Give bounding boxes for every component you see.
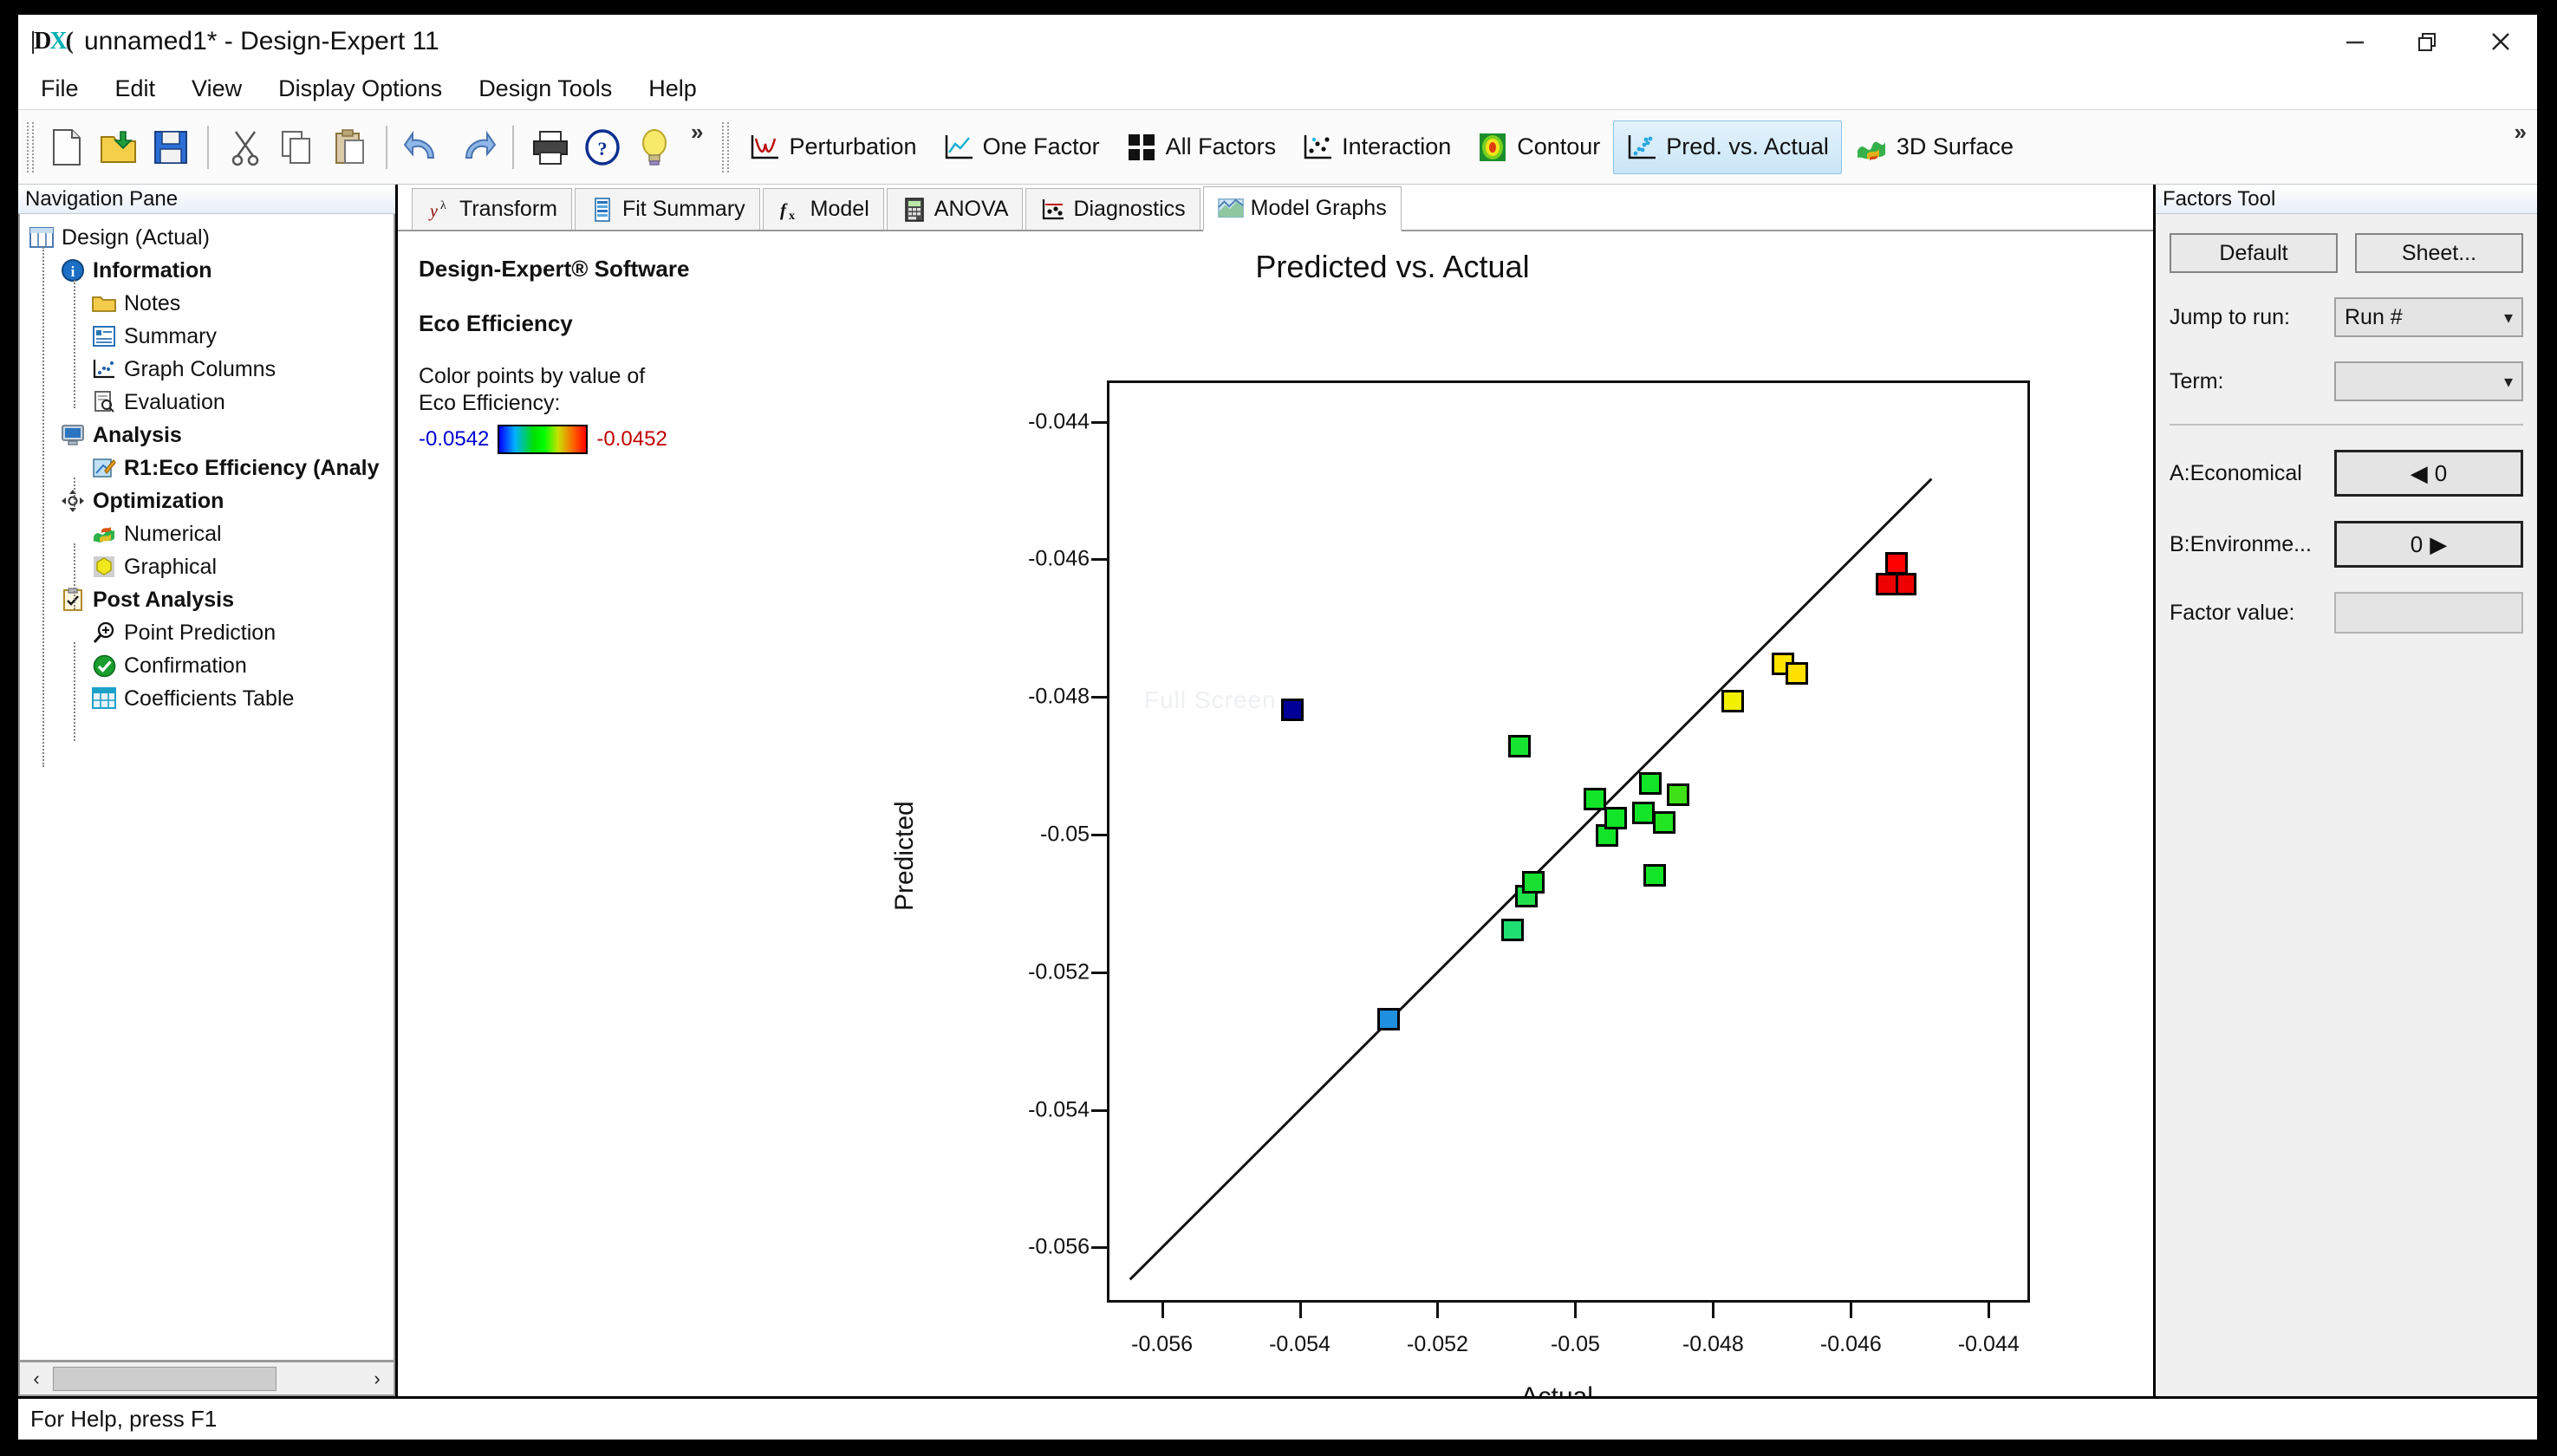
data-point[interactable]: [1377, 1008, 1400, 1030]
sheet-button[interactable]: Sheet...: [2355, 233, 2523, 273]
data-point[interactable]: [1584, 788, 1606, 810]
tree-item-label: Notes: [124, 291, 180, 316]
diagnostics-icon: [1040, 197, 1066, 223]
factors-tool-buttons: Default Sheet...: [2170, 233, 2523, 273]
cut-icon[interactable]: [219, 121, 271, 173]
model-graphs-icon: [1218, 196, 1244, 222]
factors-tool-body: Default Sheet... Jump to run: Run # ▾ Te…: [2156, 214, 2537, 644]
toolbar-overflow-button[interactable]: »: [680, 119, 713, 146]
model-fx-icon: fx: [778, 197, 804, 223]
design-expert-window: |DX( unnamed1* - Design-Expert 11 Fi: [16, 12, 2540, 1442]
data-point[interactable]: [1721, 690, 1744, 712]
svg-text:y: y: [428, 202, 438, 221]
tree-item-label: Summary: [124, 324, 217, 349]
toolbar-separator: [512, 126, 514, 169]
menu-edit[interactable]: Edit: [110, 74, 161, 104]
tree-item-post-analysis[interactable]: Post Analysis: [20, 583, 394, 616]
legend-color-note-line2: Eco Efficiency:: [419, 391, 561, 415]
factor-b-label: B:Environme...: [2170, 532, 2334, 557]
anova-calculator-icon: [901, 197, 927, 223]
tree-item-label: Information: [93, 258, 212, 283]
data-point[interactable]: [1604, 807, 1627, 829]
toolbar-button-one-factor[interactable]: One Factor: [930, 120, 1113, 174]
coefficients-table-icon: [91, 686, 117, 711]
y-axis-tick-mark: [1091, 1246, 1107, 1249]
x-axis-tick-mark: [1574, 1303, 1577, 1318]
numerical-icon: [91, 522, 117, 546]
y-axis-tick-label: -0.054: [934, 1097, 1090, 1122]
data-point[interactable]: [1653, 811, 1675, 834]
menu-display-options[interactable]: Display Options: [273, 74, 447, 104]
data-point[interactable]: [1667, 783, 1689, 806]
y-axis-tick-label: -0.05: [934, 822, 1090, 848]
tree-item-analysis[interactable]: Analysis: [20, 419, 394, 452]
jump-to-run-row: Jump to run: Run # ▾: [2170, 297, 2523, 337]
factor-b-stepper[interactable]: 0 ▶: [2334, 521, 2523, 568]
status-bar: For Help, press F1: [18, 1396, 2537, 1440]
toolbar-separator: [386, 126, 387, 169]
toolbar-grip[interactable]: [27, 122, 34, 172]
factors-tool-panel: Factors Tool Default Sheet... Jump to ru…: [2156, 185, 2537, 1396]
jump-to-run-label: Jump to run:: [2170, 305, 2334, 330]
data-point[interactable]: [1885, 552, 1908, 575]
term-label: Term:: [2170, 369, 2334, 394]
x-axis-tick-mark: [1988, 1303, 1990, 1318]
svg-text:f: f: [780, 199, 788, 220]
tree-item-label: Point Prediction: [124, 621, 276, 646]
svg-text:λ: λ: [440, 199, 446, 212]
confirmation-icon: [91, 653, 117, 678]
tab-label: Model Graphs: [1251, 196, 1387, 221]
main-area: Navigation Pane Design (Actual) i: [18, 185, 2537, 1396]
optimization-icon: [60, 489, 86, 513]
tab-fit-summary[interactable]: Fit Summary: [575, 188, 760, 230]
data-point[interactable]: [1632, 802, 1655, 824]
tab-anova[interactable]: ANOVA: [887, 188, 1024, 230]
menu-view[interactable]: View: [186, 74, 247, 104]
data-point[interactable]: [1639, 772, 1662, 795]
minimize-icon[interactable]: [2319, 17, 2391, 66]
tree-connector: [74, 478, 75, 510]
toolbar-separator: [207, 126, 209, 169]
toolbar-button-label: 3D Surface: [1897, 133, 2014, 160]
tree-item-label: Analysis: [93, 423, 182, 448]
undo-icon[interactable]: [398, 121, 450, 173]
tree-item-design-actual[interactable]: Design (Actual): [20, 221, 394, 254]
y-axis-tick-mark: [1091, 1109, 1107, 1112]
y-axis-tick-mark: [1091, 972, 1107, 974]
data-point[interactable]: [1876, 573, 1898, 595]
copy-icon[interactable]: [271, 121, 323, 173]
chart-title: Predicted vs. Actual: [398, 249, 2153, 285]
y-axis-tick-mark: [1091, 696, 1107, 699]
chevron-down-icon: ▾: [2504, 371, 2513, 393]
tree-connector: [42, 247, 44, 767]
tab-label: Fit Summary: [622, 197, 745, 222]
factors-divider: [2170, 424, 2523, 426]
y-axis-tick-label: -0.046: [934, 547, 1090, 572]
svg-text:i: i: [71, 263, 75, 280]
save-icon[interactable]: [145, 121, 197, 173]
scrollbar-thumb[interactable]: [53, 1367, 277, 1391]
menu-help[interactable]: Help: [643, 74, 702, 104]
tree-item-numerical[interactable]: Numerical: [20, 517, 394, 550]
window-controls: [2319, 17, 2537, 66]
y-axis-tick-mark: [1091, 421, 1107, 424]
data-point[interactable]: [1501, 919, 1524, 941]
toolbar-button-label: One Factor: [983, 133, 1100, 160]
graph-columns-icon: [91, 357, 117, 381]
tab-label: Model: [810, 197, 869, 222]
tree-item-label: Confirmation: [124, 653, 247, 679]
tree-item-point-prediction[interactable]: Point Prediction: [20, 616, 394, 649]
graph-toolbar-overflow-button[interactable]: »: [2504, 119, 2537, 146]
tree-connector: [74, 543, 75, 609]
x-axis-tick-mark: [1436, 1303, 1439, 1318]
factor-b-value: 0: [2411, 531, 2423, 558]
data-point[interactable]: [1786, 662, 1808, 685]
right-arrow-icon[interactable]: ▶: [2430, 531, 2447, 558]
factor-a-stepper[interactable]: ◀ 0: [2334, 450, 2523, 497]
x-axis-tick-label: -0.05: [1506, 1332, 1644, 1357]
tab-diagnostics[interactable]: Diagnostics: [1025, 188, 1200, 230]
factor-value-label: Factor value:: [2170, 601, 2334, 626]
x-axis-tick-mark: [1161, 1303, 1164, 1318]
factors-tool-caption: Factors Tool: [2156, 185, 2537, 214]
tip-icon[interactable]: [628, 121, 680, 173]
tree-item-label: Coefficients Table: [124, 686, 294, 712]
scroll-left-icon[interactable]: ‹: [20, 1362, 53, 1394]
data-point[interactable]: [1522, 871, 1545, 894]
status-bar-text: For Help, press F1: [30, 1406, 217, 1433]
factor-value-row: Factor value:: [2170, 592, 2523, 634]
open-icon[interactable]: [93, 121, 145, 173]
fit-summary-icon: [589, 197, 615, 223]
toolbar-button-all-factors[interactable]: All Factors: [1113, 120, 1290, 174]
information-icon: i: [60, 258, 86, 283]
evaluation-icon: [91, 390, 117, 414]
tree-item-label: Optimization: [93, 489, 224, 514]
redo-icon[interactable]: [450, 121, 502, 173]
jump-to-run-select[interactable]: Run # ▾: [2334, 297, 2523, 337]
close-icon[interactable]: [2464, 17, 2537, 66]
tab-label: ANOVA: [934, 197, 1009, 222]
new-icon[interactable]: [41, 121, 93, 173]
tree-item-label: Design (Actual): [62, 225, 210, 250]
data-point[interactable]: [1643, 864, 1666, 887]
x-axis-tick-label: -0.044: [1919, 1332, 2058, 1357]
navigation-pane: Navigation Pane Design (Actual) i: [18, 185, 398, 1396]
tree-item-label: Graphical: [124, 555, 217, 580]
summary-icon: [91, 324, 117, 348]
legend-color-note: Color points by value of Eco Efficiency:: [419, 363, 791, 418]
analysis-monitor-icon: [60, 423, 86, 447]
tree-connector: [74, 280, 75, 408]
legend-color-scale: -0.0542 -0.0452: [419, 425, 791, 454]
tab-transform[interactable]: yλ Transform: [412, 188, 572, 230]
identity-reference-line: [1109, 383, 2027, 1300]
default-button[interactable]: Default: [2170, 233, 2338, 273]
chevron-down-icon: ▾: [2504, 307, 2513, 328]
toolbar-button-3d-surface[interactable]: 3D Surface: [1842, 120, 2027, 174]
x-axis-tick-label: -0.048: [1643, 1332, 1782, 1357]
legend-response-name: Eco Efficiency: [419, 310, 791, 337]
x-axis-tick-label: -0.056: [1093, 1332, 1232, 1357]
menu-design-tools[interactable]: Design Tools: [473, 74, 617, 104]
y-axis-tick-label: -0.048: [934, 685, 1090, 710]
tab-label: Diagnostics: [1073, 197, 1185, 222]
tab-model-graphs[interactable]: Model Graphs: [1203, 186, 1402, 231]
app-logo-icon: |DX(: [30, 28, 72, 55]
graph-toolbar: Perturbation One Factor All Factors Inte…: [736, 110, 2027, 184]
tree-item-label: Graph Columns: [124, 357, 276, 382]
transform-icon: yλ: [426, 197, 452, 223]
factor-a-label: A:Economical: [2170, 461, 2334, 486]
chart-title-text: Predicted vs. Actual: [1255, 249, 1529, 284]
paste-icon[interactable]: [323, 121, 375, 173]
toolbar-button-label: Pred. vs. Actual: [1666, 133, 1829, 160]
jump-to-run-value: Run #: [2345, 305, 2403, 330]
post-analysis-icon: [60, 588, 86, 612]
svg-text:?: ?: [598, 138, 608, 159]
folder-icon: [91, 291, 117, 315]
data-point[interactable]: [1508, 735, 1531, 757]
y-axis-tick-label: -0.052: [934, 959, 1090, 985]
legend-scale-high: -0.0452: [596, 427, 667, 452]
x-axis-tick-mark: [1299, 1303, 1302, 1318]
y-axis-tick-label: -0.044: [934, 409, 1090, 434]
toolbar-button-label: All Factors: [1166, 133, 1277, 160]
x-axis-label: Actual: [1521, 1382, 1593, 1396]
x-axis-tick-label: -0.052: [1368, 1332, 1506, 1357]
legend-scale-low: -0.0542: [419, 427, 489, 452]
tree-connector: [74, 642, 75, 741]
help-icon[interactable]: ?: [576, 121, 628, 173]
plot-area: Full Screen: [1107, 380, 2030, 1303]
tree-item-graph-columns[interactable]: Graph Columns: [20, 353, 394, 386]
tree-item-label: Post Analysis: [93, 588, 234, 613]
model-graph-canvas: Design-Expert® Software Eco Efficiency C…: [398, 231, 2153, 1396]
restore-icon[interactable]: [2391, 17, 2464, 66]
graph-legend: Design-Expert® Software Eco Efficiency C…: [419, 256, 791, 454]
toolbar: ? » Perturbation One Factor All Factors …: [18, 110, 2537, 185]
toolbar-button-perturbation[interactable]: Perturbation: [736, 120, 929, 174]
y-axis-tick-mark: [1091, 558, 1107, 561]
tree-item-summary[interactable]: Summary: [20, 320, 394, 353]
response-icon: [91, 456, 117, 480]
window-title: unnamed1* - Design-Expert 11: [84, 27, 439, 56]
tree-item-evaluation[interactable]: Evaluation: [20, 386, 394, 419]
svg-text:x: x: [789, 210, 795, 222]
menu-bar: File Edit View Display Options Design To…: [18, 68, 2537, 110]
menu-file[interactable]: File: [36, 74, 84, 104]
tab-label: Transform: [459, 197, 557, 222]
x-axis-tick-label: -0.046: [1781, 1332, 1920, 1357]
tree-item-label: Numerical: [124, 522, 222, 547]
factor-a-row: A:Economical ◀ 0: [2170, 450, 2523, 497]
toolbar-grip-2[interactable]: [722, 122, 729, 172]
legend-color-note-line1: Color points by value of: [419, 364, 645, 388]
title-bar: |DX( unnamed1* - Design-Expert 11: [18, 15, 2537, 68]
graphical-icon: [91, 555, 117, 579]
design-table-icon: [29, 225, 55, 250]
term-select[interactable]: ▾: [2334, 361, 2523, 401]
toolbar-button-label: Contour: [1517, 133, 1600, 160]
tree-item-r1-eco-efficiency[interactable]: R1:Eco Efficiency (Analy: [20, 452, 394, 484]
tree-item-label: Evaluation: [124, 390, 225, 415]
tree-item-notes[interactable]: Notes: [20, 287, 394, 320]
point-prediction-icon: [91, 621, 117, 645]
x-axis-tick-mark: [1850, 1303, 1852, 1318]
navigation-horizontal-scrollbar[interactable]: ‹ ›: [18, 1362, 395, 1396]
tree-item-graphical[interactable]: Graphical: [20, 550, 394, 583]
tab-model[interactable]: fx Model: [763, 188, 884, 230]
factor-value-input[interactable]: [2334, 592, 2523, 634]
y-axis-tick-label: -0.056: [934, 1235, 1090, 1260]
y-axis-tick-mark: [1091, 834, 1107, 836]
x-axis-tick-mark: [1712, 1303, 1714, 1318]
toolbar-button-contour[interactable]: Contour: [1464, 120, 1613, 174]
x-axis-tick-label: -0.054: [1231, 1332, 1370, 1357]
color-gradient-bar-icon: [498, 425, 588, 454]
toolbar-button-pred-vs-actual[interactable]: Pred. vs. Actual: [1613, 120, 1842, 174]
tree-item-optimization[interactable]: Optimization: [20, 484, 394, 517]
content-area: yλ Transform Fit Summary fx Model: [398, 185, 2156, 1396]
tree-item-information[interactable]: i Information: [20, 254, 394, 287]
tree-item-label: R1:Eco Efficiency (Analy: [124, 456, 380, 481]
factor-a-value: 0: [2435, 460, 2447, 487]
navigation-tree: Design (Actual) i Information Notes: [18, 214, 395, 1362]
left-arrow-icon[interactable]: ◀: [2411, 460, 2428, 487]
tree-item-coefficients-table[interactable]: Coefficients Table: [20, 682, 394, 715]
analysis-tab-bar: yλ Transform Fit Summary fx Model: [398, 185, 2153, 231]
scroll-right-icon[interactable]: ›: [361, 1362, 394, 1394]
fullscreen-watermark: Full Screen: [1144, 686, 1277, 714]
toolbar-button-label: Perturbation: [789, 133, 916, 160]
y-axis-label: Predicted: [890, 801, 920, 911]
tree-item-confirmation[interactable]: Confirmation: [20, 649, 394, 682]
factor-b-row: B:Environme... 0 ▶: [2170, 521, 2523, 568]
term-row: Term: ▾: [2170, 361, 2523, 401]
toolbar-button-interaction[interactable]: Interaction: [1289, 120, 1464, 174]
toolbar-button-label: Interaction: [1342, 133, 1451, 160]
print-icon[interactable]: [524, 121, 576, 173]
data-point[interactable]: [1281, 699, 1304, 721]
navigation-pane-caption: Navigation Pane: [18, 185, 395, 214]
